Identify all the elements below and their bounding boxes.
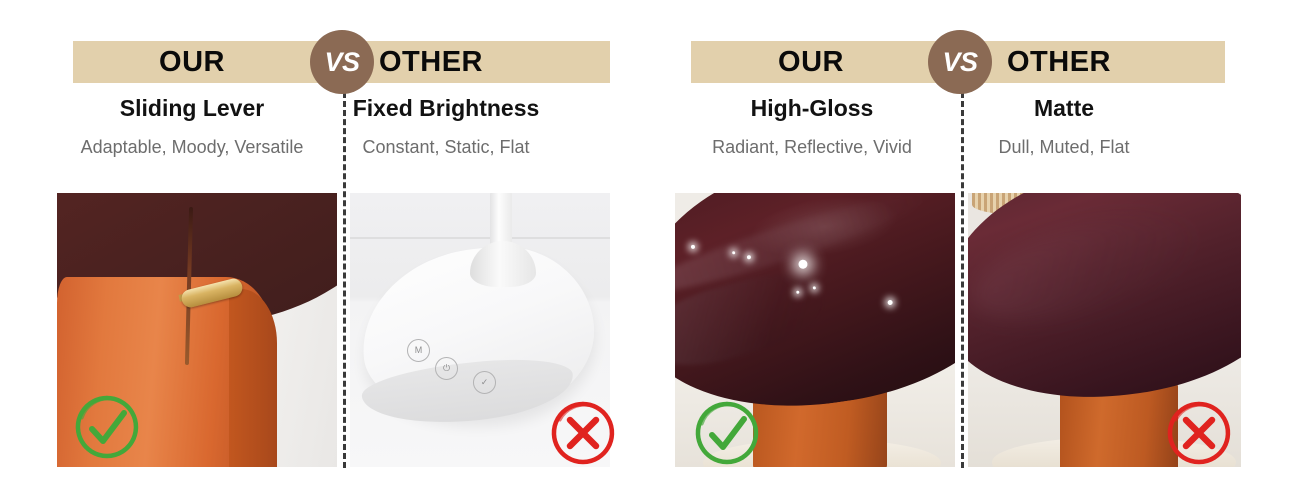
comparison-section-left: OUR OTHER VS Sliding Lever Fixed Brightn… xyxy=(0,0,648,504)
column-title-other-left: Fixed Brightness xyxy=(306,95,586,122)
verdict-check-icon-our-left xyxy=(72,392,142,462)
column-title-our-left: Sliding Lever xyxy=(52,95,332,122)
soft-light-shape xyxy=(968,195,1206,341)
banner-label-our-left: OUR xyxy=(77,41,307,83)
banner-label-our-right: OUR xyxy=(696,41,926,83)
specular-highlight-icon xyxy=(691,245,696,250)
dashed-divider-right xyxy=(961,92,964,468)
lamp-body-edge-shape xyxy=(229,289,277,467)
dashed-divider-left xyxy=(343,92,346,468)
specular-highlight-icon xyxy=(798,259,808,269)
verdict-cross-icon-other-left xyxy=(548,398,618,468)
column-title-other-right: Matte xyxy=(924,95,1204,122)
mode-button-icon: M xyxy=(407,339,430,362)
column-subtitle-other-left: Constant, Static, Flat xyxy=(296,137,596,158)
specular-highlight-icon xyxy=(887,300,893,306)
verdict-check-icon-our-right xyxy=(692,398,762,468)
power-button-icon: ⏻ xyxy=(435,357,458,380)
column-subtitle-other-right: Dull, Muted, Flat xyxy=(914,137,1214,158)
wall-line-shape xyxy=(350,237,610,239)
vs-badge-left: VS xyxy=(310,30,374,94)
timer-button-icon: ✓ xyxy=(473,371,496,394)
vs-badge-right: VS xyxy=(928,30,992,94)
column-title-our-right: High-Gloss xyxy=(672,95,952,122)
verdict-cross-icon-other-right xyxy=(1164,398,1234,468)
